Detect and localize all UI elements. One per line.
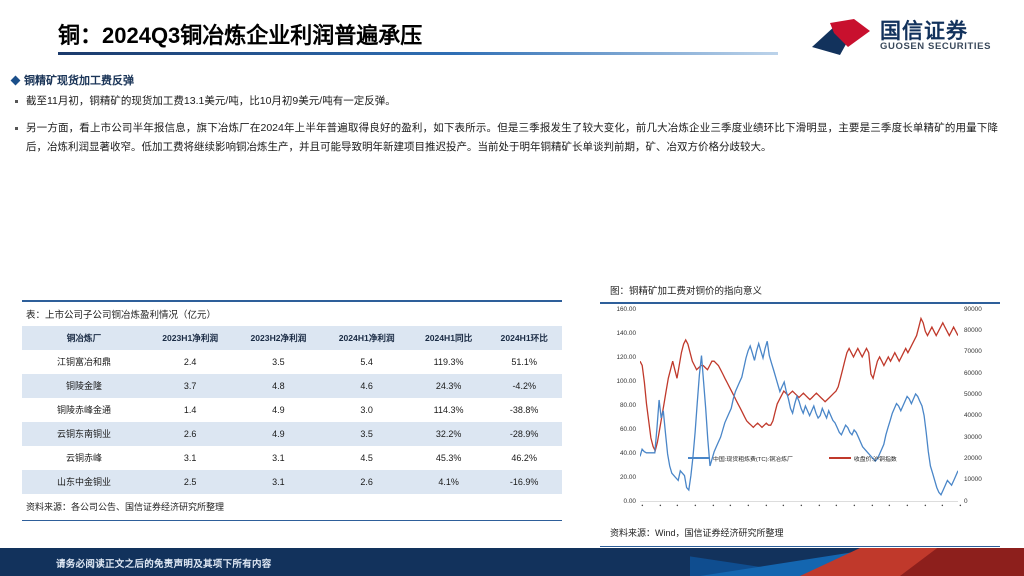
col-header-2023h2: 2023H2净利润 [234, 326, 322, 350]
chart-caption: 图：铜精矿加工费对铜价的指向意义 [600, 283, 1000, 302]
x-axis-tick: • [852, 503, 858, 508]
y-axis-left-tick: 0.00 [600, 498, 636, 505]
y-axis-right-tick: 70000 [964, 348, 982, 355]
y-axis-right-tick: 80000 [964, 327, 982, 334]
x-axis-tick: • [781, 503, 787, 508]
slide-footer: 请务必阅读正文之后的免责声明及其项下所有内容 [0, 548, 1024, 576]
table-caption: 表：上市公司子公司铜冶炼盈利情况（亿元） [22, 302, 562, 326]
cell-plant: 铜陵赤峰金通 [22, 398, 146, 422]
legend-swatch-price [829, 457, 851, 459]
y-axis-left-tick: 60.00 [600, 426, 636, 433]
table-panel: 表：上市公司子公司铜冶炼盈利情况（亿元） 铜冶炼厂 2023H1净利润 2023… [22, 300, 562, 521]
x-axis-tick: • [675, 503, 681, 508]
cell-2023h1: 2.6 [146, 422, 234, 446]
section-heading: 铜精矿现货加工费反弹 [12, 72, 134, 88]
cell-2023h1: 3.7 [146, 374, 234, 398]
x-axis-tick: • [658, 503, 664, 508]
cell-plant: 山东中金铜业 [22, 470, 146, 494]
guosen-logo-icon [810, 17, 872, 57]
cell-2023h2: 3.1 [234, 470, 322, 494]
y-axis-left-tick: 40.00 [600, 450, 636, 457]
title-underline [58, 52, 778, 55]
col-header-qoq: 2024H1环比 [486, 326, 562, 350]
col-header-2023h1: 2023H1净利润 [146, 326, 234, 350]
cell-qoq: -38.8% [486, 398, 562, 422]
page-title: 铜：2024Q3铜冶炼企业利润普遍承压 [58, 18, 422, 50]
list-item: 截至11月初，铜精矿的现货加工费13.1美元/吨，比10月初9美元/吨有一定反弹… [12, 92, 998, 111]
legend-label-price: 收盘价:沪铜指数 [854, 454, 897, 463]
series-line-copper-price [640, 318, 958, 450]
cell-2023h1: 2.4 [146, 350, 234, 374]
logo-text-en: GUOSEN SECURITIES [880, 41, 991, 52]
y-axis-right-tick: 90000 [964, 306, 982, 313]
cell-2023h2: 4.8 [234, 374, 322, 398]
cell-2024h1: 4.5 [323, 446, 411, 470]
legend-item-tc: 中国:现货粗炼费(TC):铜冶炼厂 [688, 454, 793, 463]
profit-table: 铜冶炼厂 2023H1净利润 2023H2净利润 2024H1净利润 2024H… [22, 326, 562, 494]
cell-qoq: -28.9% [486, 422, 562, 446]
cell-plant: 铜陵金隆 [22, 374, 146, 398]
cell-plant: 江铜富冶和鼎 [22, 350, 146, 374]
cell-yoy: 4.1% [411, 470, 487, 494]
cell-yoy: 45.3% [411, 446, 487, 470]
col-header-yoy: 2024H1同比 [411, 326, 487, 350]
y-axis-right-tick: 10000 [964, 476, 982, 483]
cell-2023h1: 3.1 [146, 446, 234, 470]
y-axis-left-tick: 100.00 [600, 378, 636, 385]
table-row: 铜陵金隆 3.7 4.8 4.6 24.3% -4.2% [22, 374, 562, 398]
bullet-list: 截至11月初，铜精矿的现货加工费13.1美元/吨，比10月初9美元/吨有一定反弹… [12, 92, 998, 165]
cell-yoy: 32.2% [411, 422, 487, 446]
slide-header: 铜：2024Q3铜冶炼企业利润普遍承压 国信证券 GUOSEN SECURITI… [0, 0, 1024, 66]
cell-2023h1: 2.5 [146, 470, 234, 494]
x-axis-tick: • [764, 503, 770, 508]
chart-bottom-rule [600, 546, 1000, 548]
cell-2023h2: 3.5 [234, 350, 322, 374]
cell-2024h1: 2.6 [323, 470, 411, 494]
slide: 铜：2024Q3铜冶炼企业利润普遍承压 国信证券 GUOSEN SECURITI… [0, 0, 1024, 576]
x-axis-ticks: ••••••••••••••••••• [640, 504, 958, 518]
diamond-bullet-icon [11, 75, 21, 85]
cell-qoq: -16.9% [486, 470, 562, 494]
legend-item-price: 收盘价:沪铜指数 [829, 454, 897, 463]
x-axis-tick: • [799, 503, 805, 508]
y-axis-right-tick: 50000 [964, 391, 982, 398]
table-row: 云铜东南铜业 2.6 4.9 3.5 32.2% -28.9% [22, 422, 562, 446]
cell-yoy: 24.3% [411, 374, 487, 398]
table-row: 山东中金铜业 2.5 3.1 2.6 4.1% -16.9% [22, 470, 562, 494]
col-header-2024h1: 2024H1净利润 [323, 326, 411, 350]
series-line-tc [640, 341, 958, 495]
x-axis-tick: • [887, 503, 893, 508]
table-source-note: 资料来源：各公司公告、国信证券经济研究所整理 [22, 494, 562, 518]
x-axis-tick: • [905, 503, 911, 508]
cell-yoy: 119.3% [411, 350, 487, 374]
x-axis-tick: • [923, 503, 929, 508]
cell-2023h2: 4.9 [234, 398, 322, 422]
y-axis-right-tick: 40000 [964, 412, 982, 419]
table-row: 云铜赤峰 3.1 3.1 4.5 45.3% 46.2% [22, 446, 562, 470]
chart-source-note: 资料来源：Wind，国信证券经济研究所整理 [600, 519, 1000, 544]
x-axis-tick: • [834, 503, 840, 508]
x-axis-tick: • [940, 503, 946, 508]
brand-logo: 国信证券 GUOSEN SECURITIES [810, 14, 996, 60]
section-heading-label: 铜精矿现货加工费反弹 [24, 72, 134, 88]
footer-disclaimer: 请务必阅读正文之后的免责声明及其项下所有内容 [56, 556, 272, 570]
legend-swatch-tc [688, 457, 710, 459]
cell-plant: 云铜东南铜业 [22, 422, 146, 446]
y-axis-left-tick: 120.00 [600, 354, 636, 361]
table-row: 江铜富冶和鼎 2.4 3.5 5.4 119.3% 51.1% [22, 350, 562, 374]
y-axis-left-tick: 140.00 [600, 330, 636, 337]
cell-2023h2: 4.9 [234, 422, 322, 446]
legend-label-tc: 中国:现货粗炼费(TC):铜冶炼厂 [713, 454, 793, 463]
cell-2024h1: 4.6 [323, 374, 411, 398]
cell-2024h1: 5.4 [323, 350, 411, 374]
y-axis-right-tick: 0 [964, 498, 968, 505]
y-axis-right-tick: 30000 [964, 434, 982, 441]
cell-qoq: 51.1% [486, 350, 562, 374]
cell-2024h1: 3.0 [323, 398, 411, 422]
chart-panel: 图：铜精矿加工费对铜价的指向意义 0.0020.0040.0060.0080.0… [600, 283, 1000, 547]
cell-qoq: -4.2% [486, 374, 562, 398]
x-axis-tick: • [640, 503, 646, 508]
chart-legend: 中国:现货粗炼费(TC):铜冶炼厂 收盘价:沪铜指数 [688, 454, 968, 463]
table-header-row: 铜冶炼厂 2023H1净利润 2023H2净利润 2024H1净利润 2024H… [22, 326, 562, 350]
tc-vs-copper-price-chart: 0.0020.0040.0060.0080.00100.00120.00140.… [600, 304, 1000, 519]
cell-yoy: 114.3% [411, 398, 487, 422]
cell-2023h2: 3.1 [234, 446, 322, 470]
x-axis-tick: • [870, 503, 876, 508]
y-axis-left-tick: 160.00 [600, 306, 636, 313]
x-axis-tick: • [728, 503, 734, 508]
y-axis-right-tick: 60000 [964, 370, 982, 377]
x-axis-tick: • [817, 503, 823, 508]
cell-plant: 云铜赤峰 [22, 446, 146, 470]
x-axis-tick: • [746, 503, 752, 508]
table-row: 铜陵赤峰金通 1.4 4.9 3.0 114.3% -38.8% [22, 398, 562, 422]
y-axis-left-tick: 80.00 [600, 402, 636, 409]
col-header-plant: 铜冶炼厂 [22, 326, 146, 350]
cell-2023h1: 1.4 [146, 398, 234, 422]
list-item: 另一方面，看上市公司半年报信息，旗下冶炼厂在2024年上半年普遍取得良好的盈利，… [12, 119, 998, 157]
cell-2024h1: 3.5 [323, 422, 411, 446]
x-axis-tick: • [693, 503, 699, 508]
cell-qoq: 46.2% [486, 446, 562, 470]
x-axis-tick: • [711, 503, 717, 508]
y-axis-left-tick: 20.00 [600, 474, 636, 481]
table-bottom-rule [22, 520, 562, 522]
chart-plot-area [640, 310, 958, 502]
